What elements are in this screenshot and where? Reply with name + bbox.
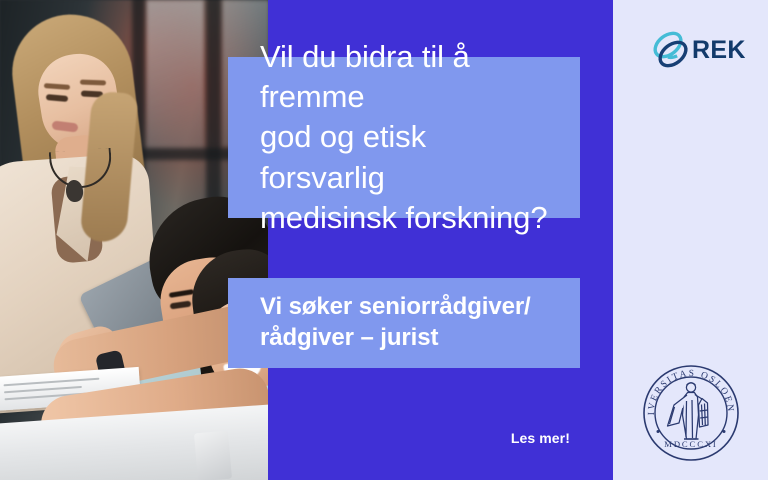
paper-line <box>4 378 100 387</box>
seal-year-roman: MDCCCXI <box>664 439 717 449</box>
rek-wordmark: REK <box>692 36 746 65</box>
read-more-link[interactable]: Les mer! <box>380 430 570 446</box>
interlocking-rings-icon <box>648 27 694 73</box>
headline-box: Vil du bidra til å fremme god og etisk f… <box>228 57 580 218</box>
paper-line <box>4 386 82 393</box>
rek-logo[interactable]: REK <box>648 26 740 74</box>
role-text: Vi søker seniorrådgiver/ rådgiver – juri… <box>228 292 551 353</box>
job-advert-banner: Vil du bidra til å fremme god og etisk f… <box>0 0 768 480</box>
seal-dot <box>657 430 660 433</box>
apollo-figure <box>668 383 709 439</box>
laptop-secondary <box>194 431 232 480</box>
window-glass <box>146 0 204 150</box>
seal-dot <box>723 430 726 433</box>
eyebrow <box>80 80 106 86</box>
uio-seal: UNIVERSITAS OSLOENSIS MDCCCXI <box>641 363 741 463</box>
headline-text: Vil du bidra til å fremme god og etisk f… <box>228 37 580 238</box>
role-box: Vi søker seniorrådgiver/ rådgiver – juri… <box>228 278 580 368</box>
